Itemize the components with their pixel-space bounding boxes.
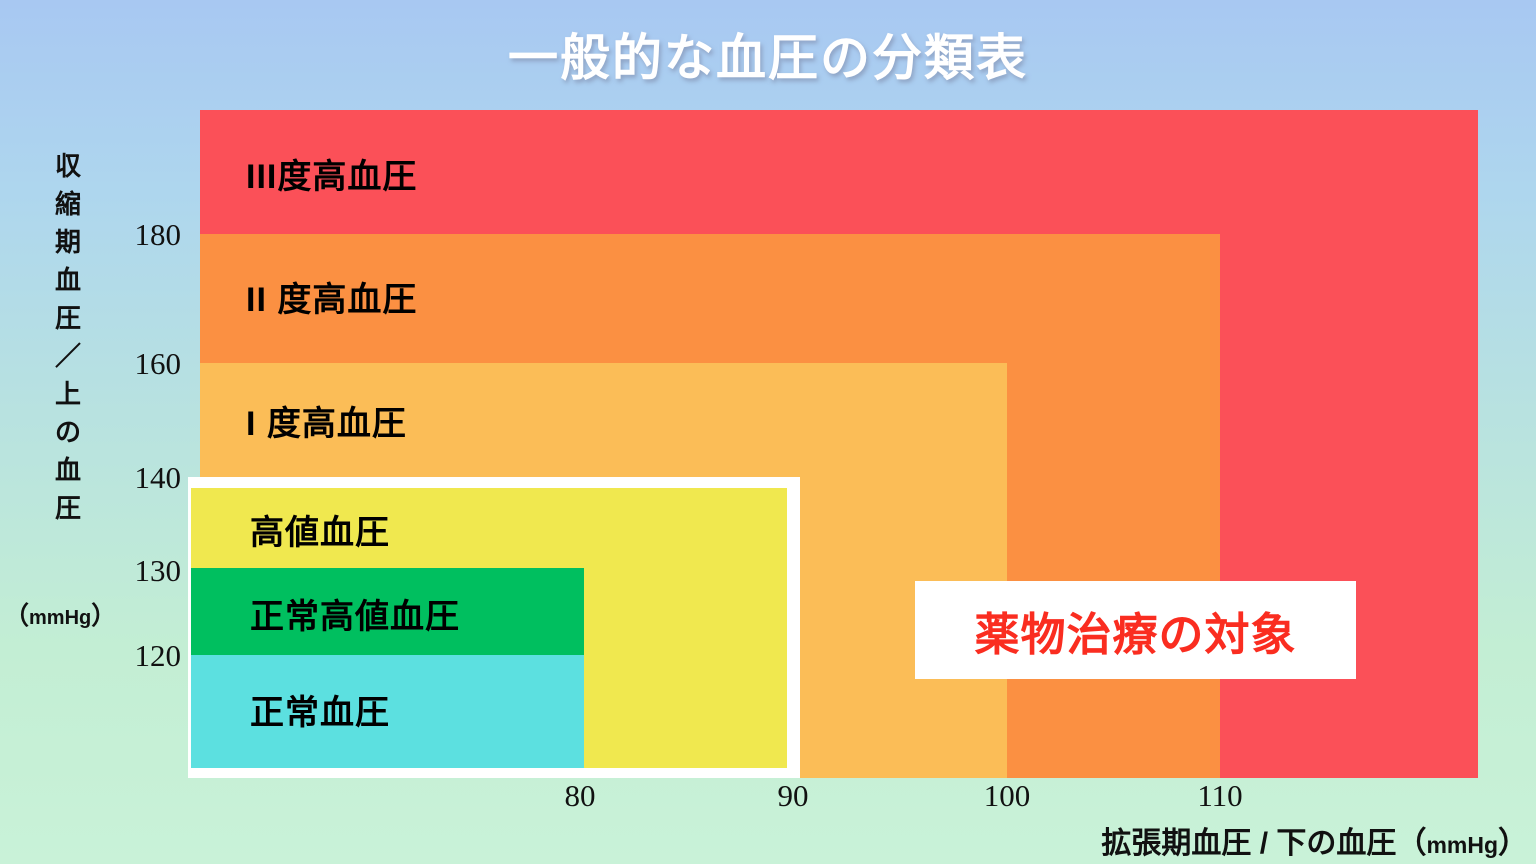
treatment-callout-box: 薬物治療の対象 bbox=[915, 581, 1356, 679]
x-unit-mmhg: mmHg bbox=[1426, 832, 1498, 858]
y-tick-140: 140 bbox=[111, 462, 181, 493]
treatment-callout-text: 薬物治療の対象 bbox=[974, 598, 1296, 663]
x-tick-80: 80 bbox=[540, 778, 620, 814]
region-grade2-column bbox=[1007, 363, 1220, 778]
label-grade1-hypertension: I 度高血圧 bbox=[246, 396, 407, 445]
label-high-normal-upper: 高値血圧 bbox=[250, 505, 390, 554]
page-title: 一般的な血圧の分類表 bbox=[0, 18, 1536, 90]
label-grade2-hypertension: II 度高血圧 bbox=[246, 272, 417, 321]
y-unit-mmhg: mmHg bbox=[29, 607, 91, 629]
x-axis-title: 拡張期血圧 / 下の血圧（mmHg） bbox=[1101, 818, 1528, 862]
x-unit-close-paren: ） bbox=[1498, 827, 1528, 860]
y-tick-160: 160 bbox=[111, 348, 181, 379]
x-axis-title-main: 拡張期血圧 / 下の血圧 bbox=[1101, 827, 1396, 860]
region-grade3-column bbox=[1220, 234, 1478, 778]
x-unit-open-paren: （ bbox=[1396, 827, 1426, 860]
x-tick-90: 90 bbox=[753, 778, 833, 814]
y-axis-unit: （mmHg） bbox=[4, 596, 116, 632]
y-tick-120: 120 bbox=[111, 640, 181, 671]
x-tick-110: 110 bbox=[1180, 778, 1260, 814]
y-tick-180: 180 bbox=[111, 219, 181, 250]
y-unit-close-paren: ） bbox=[91, 602, 116, 630]
label-normal-high: 正常高値血圧 bbox=[250, 589, 460, 638]
y-axis-title: 収縮期血圧／上の血圧 bbox=[42, 148, 94, 528]
y-tick-130: 130 bbox=[111, 555, 181, 586]
x-tick-100: 100 bbox=[967, 778, 1047, 814]
label-grade3-hypertension: III度高血圧 bbox=[246, 149, 417, 198]
label-normal: 正常血圧 bbox=[250, 685, 390, 734]
y-unit-open-paren: （ bbox=[4, 602, 29, 630]
